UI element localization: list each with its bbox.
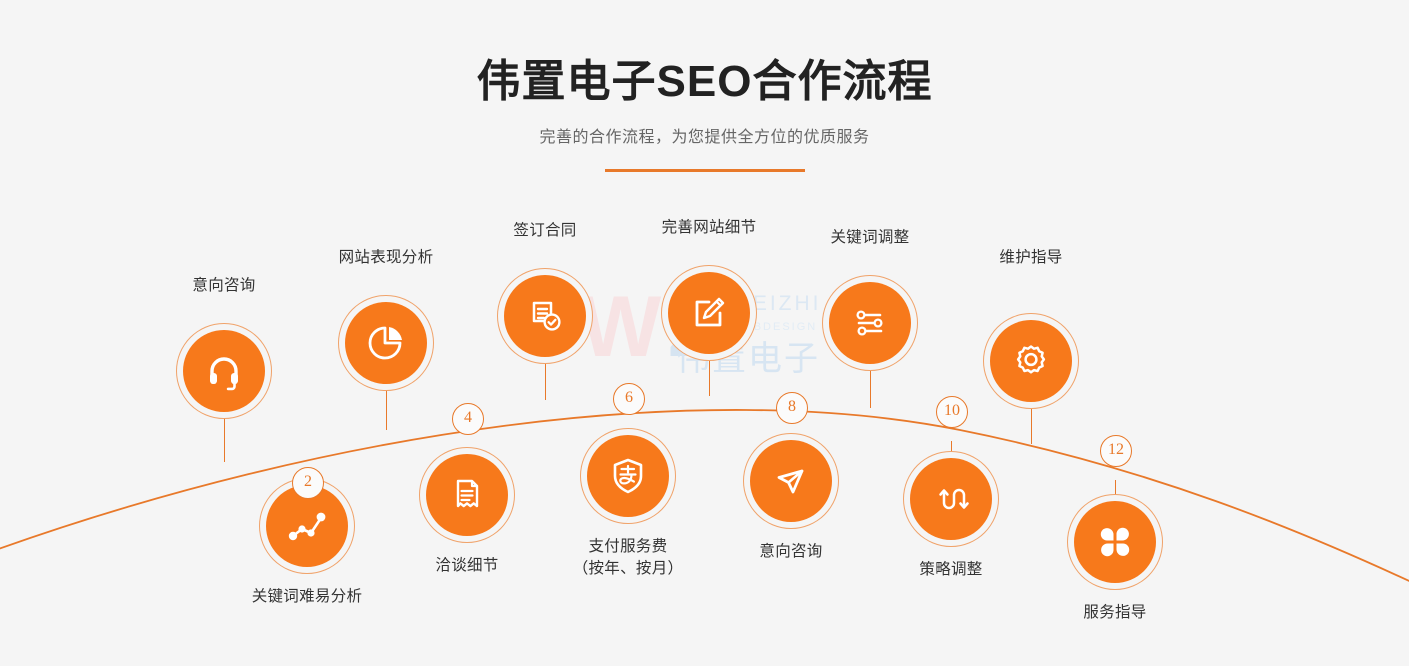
clover-icon: [1094, 521, 1136, 563]
step-number[interactable]: 6: [613, 383, 645, 415]
step-label: 维护指导: [911, 247, 1151, 269]
infographic-canvas: 伟置电子SEO合作流程 完善的合作流程，为您提供全方位的优质服务 W Z WEI…: [0, 0, 1409, 666]
step-icon-disc[interactable]: [183, 330, 265, 412]
edit-square-icon: [688, 292, 730, 334]
step-stem: [224, 412, 225, 462]
step-icon-disc[interactable]: [345, 302, 427, 384]
step-stem: [709, 354, 710, 396]
step-icon-disc[interactable]: [426, 454, 508, 536]
headset-icon: [204, 351, 244, 391]
contract-check-icon: [524, 295, 566, 337]
step-stem: [386, 384, 387, 430]
page-subtitle: 完善的合作流程，为您提供全方位的优质服务: [0, 128, 1409, 147]
step-label: 服务指导: [995, 602, 1235, 624]
network-nodes-icon: [286, 505, 328, 547]
step-label: 关键词难易分析: [187, 586, 427, 608]
step-icon-disc[interactable]: [504, 275, 586, 357]
step-label-line1: 策略调整: [831, 559, 1071, 581]
swap-arrows-icon: [930, 478, 972, 520]
step-stem: [545, 357, 546, 400]
step-stem: [1031, 402, 1032, 444]
step-stem: [870, 364, 871, 408]
shield-pay-icon: [607, 455, 649, 497]
step-number[interactable]: 10: [936, 396, 968, 428]
step-icon-disc[interactable]: [587, 435, 669, 517]
sliders-icon: [849, 302, 891, 344]
step-label: 意向咨询: [104, 275, 344, 297]
step-number[interactable]: 12: [1100, 435, 1132, 467]
step-number[interactable]: 2: [292, 467, 324, 499]
step-icon-disc[interactable]: [990, 320, 1072, 402]
step-icon-disc[interactable]: [910, 458, 992, 540]
pie-chart-icon: [365, 322, 407, 364]
title-underline-rule: [605, 169, 805, 172]
step-label-line1: 关键词难易分析: [187, 586, 427, 608]
receipt-icon: [446, 474, 488, 516]
step-label: 网站表现分析: [266, 247, 506, 269]
step-icon-disc[interactable]: [829, 282, 911, 364]
step-label-line1: 服务指导: [995, 602, 1235, 624]
page-title: 伟置电子SEO合作流程: [0, 56, 1409, 108]
step-number[interactable]: 8: [776, 392, 808, 424]
step-label-line1: 网站表现分析: [266, 247, 506, 269]
gear-icon: [1010, 340, 1052, 382]
step-number[interactable]: 4: [452, 403, 484, 435]
step-label-line1: 意向咨询: [104, 275, 344, 297]
step-label: 策略调整: [831, 559, 1071, 581]
send-plane-icon: [769, 459, 813, 503]
step-icon-disc[interactable]: [668, 272, 750, 354]
step-icon-disc[interactable]: [750, 440, 832, 522]
header: 伟置电子SEO合作流程 完善的合作流程，为您提供全方位的优质服务: [0, 56, 1409, 172]
step-label-line1: 维护指导: [911, 247, 1151, 269]
svg-text:W: W: [580, 279, 662, 375]
step-icon-disc[interactable]: [1074, 501, 1156, 583]
